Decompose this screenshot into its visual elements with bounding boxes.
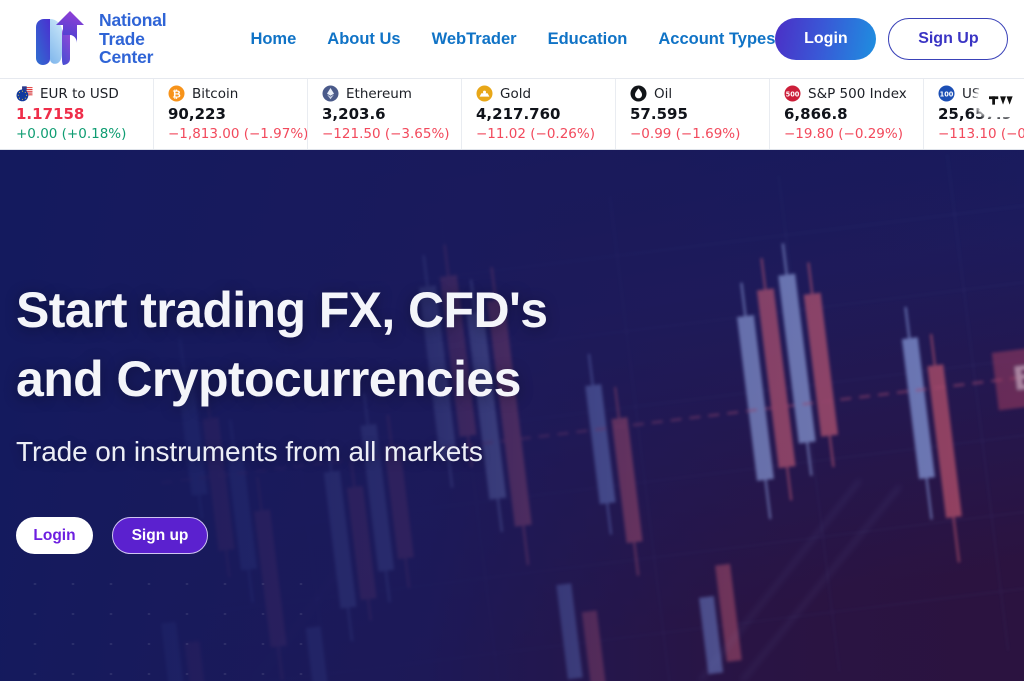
ticker-item-sp500[interactable]: 500 S&P 500 Index 6,866.8 −19.80 (−0.29%… (770, 79, 924, 149)
ticker-price: 4,217.760 (476, 105, 605, 125)
hero-cta-group: Login Sign up (16, 517, 1024, 554)
ticker-item-ethereum[interactable]: Ethereum 3,203.6 −121.50 (−3.65%) (308, 79, 462, 149)
bitcoin-icon: ₿ (168, 85, 185, 102)
svg-text:100: 100 (940, 90, 954, 98)
hero-login-button[interactable]: Login (16, 517, 93, 554)
ticker-change: −19.80 (−0.29%) (784, 125, 913, 143)
nav-item-about-us[interactable]: About Us (327, 30, 400, 49)
brand-name: National Trade Center (99, 11, 166, 68)
ticker-change: −1,813.00 (−1.97%) (168, 125, 297, 143)
header-login-button[interactable]: Login (775, 18, 876, 60)
site-header: National Trade Center Home About Us WebT… (0, 0, 1024, 78)
brand-logo[interactable]: National Trade Center (30, 9, 166, 69)
ticker-price: 90,223 (168, 105, 297, 125)
nav-item-education[interactable]: Education (548, 30, 628, 49)
ticker-head: Ethereum (322, 85, 451, 102)
ticker-item-eur-usd[interactable]: EUR to USD 1.17158 +0.00 (+0.18%) (0, 79, 154, 149)
ticker-head: EUR to USD (16, 85, 143, 102)
ticker-change: −121.50 (−3.65%) (322, 125, 451, 143)
ticker-symbol-name: Bitcoin (192, 86, 238, 102)
gold-icon (476, 85, 493, 102)
us100-icon: 100 (938, 85, 955, 102)
ticker-price: 57.595 (630, 105, 759, 125)
ticker-item-bitcoin[interactable]: ₿ Bitcoin 90,223 −1,813.00 (−1.97%) (154, 79, 308, 149)
ticker-price: 3,203.6 (322, 105, 451, 125)
market-ticker-bar[interactable]: EUR to USD 1.17158 +0.00 (+0.18%) ₿ Bitc… (0, 78, 1024, 150)
ethereum-icon (322, 85, 339, 102)
main-navigation: Home About Us WebTrader Education Accoun… (250, 30, 775, 49)
svg-text:₿: ₿ (172, 89, 181, 101)
nav-item-account-types[interactable]: Account Types (658, 30, 775, 49)
ticker-symbol-name: Oil (654, 86, 672, 102)
oil-icon (630, 85, 647, 102)
ticker-price: 6,866.8 (784, 105, 913, 125)
nav-item-webtrader[interactable]: WebTrader (432, 30, 517, 49)
ticker-symbol-name: EUR to USD (40, 86, 119, 102)
ticker-symbol-name: Gold (500, 86, 531, 102)
hero-section: BTC Start trading FX, CFD's and Cryptocu… (0, 150, 1024, 681)
ticker-item-gold[interactable]: Gold 4,217.760 −11.02 (−0.26%) (462, 79, 616, 149)
ticker-item-oil[interactable]: Oil 57.595 −0.99 (−1.69%) (616, 79, 770, 149)
ticker-head: ₿ Bitcoin (168, 85, 297, 102)
ticker-symbol-name: Ethereum (346, 86, 412, 102)
hero-content: Start trading FX, CFD's and Cryptocurren… (0, 150, 1024, 554)
ticker-head: Gold (476, 85, 605, 102)
header-signup-button[interactable]: Sign Up (888, 18, 1008, 60)
svg-text:500: 500 (786, 90, 800, 98)
hero-title: Start trading FX, CFD's and Cryptocurren… (16, 276, 1024, 414)
ticker-symbol-name: S&P 500 Index (808, 86, 907, 102)
ticker-change: +0.00 (+0.18%) (16, 125, 143, 143)
n-arrow-logo-icon (30, 9, 88, 69)
sp500-icon: 500 (784, 85, 801, 102)
ticker-head: Oil (630, 85, 759, 102)
ticker-head: 500 S&P 500 Index (784, 85, 913, 102)
nav-item-home[interactable]: Home (250, 30, 296, 49)
ticker-change: −113.10 (−0.44% (938, 125, 1024, 143)
header-actions: Login Sign Up (775, 18, 1008, 60)
eur-usd-flags-icon (16, 85, 33, 102)
hero-signup-button[interactable]: Sign up (112, 517, 208, 554)
ticker-change: −0.99 (−1.69%) (630, 125, 759, 143)
hero-dot-pattern (0, 561, 330, 681)
ticker-change: −11.02 (−0.26%) (476, 125, 605, 143)
tradingview-logo-icon[interactable] (978, 83, 1024, 117)
hero-subtitle: Trade on instruments from all markets (16, 436, 1024, 468)
ticker-price: 1.17158 (16, 105, 143, 125)
